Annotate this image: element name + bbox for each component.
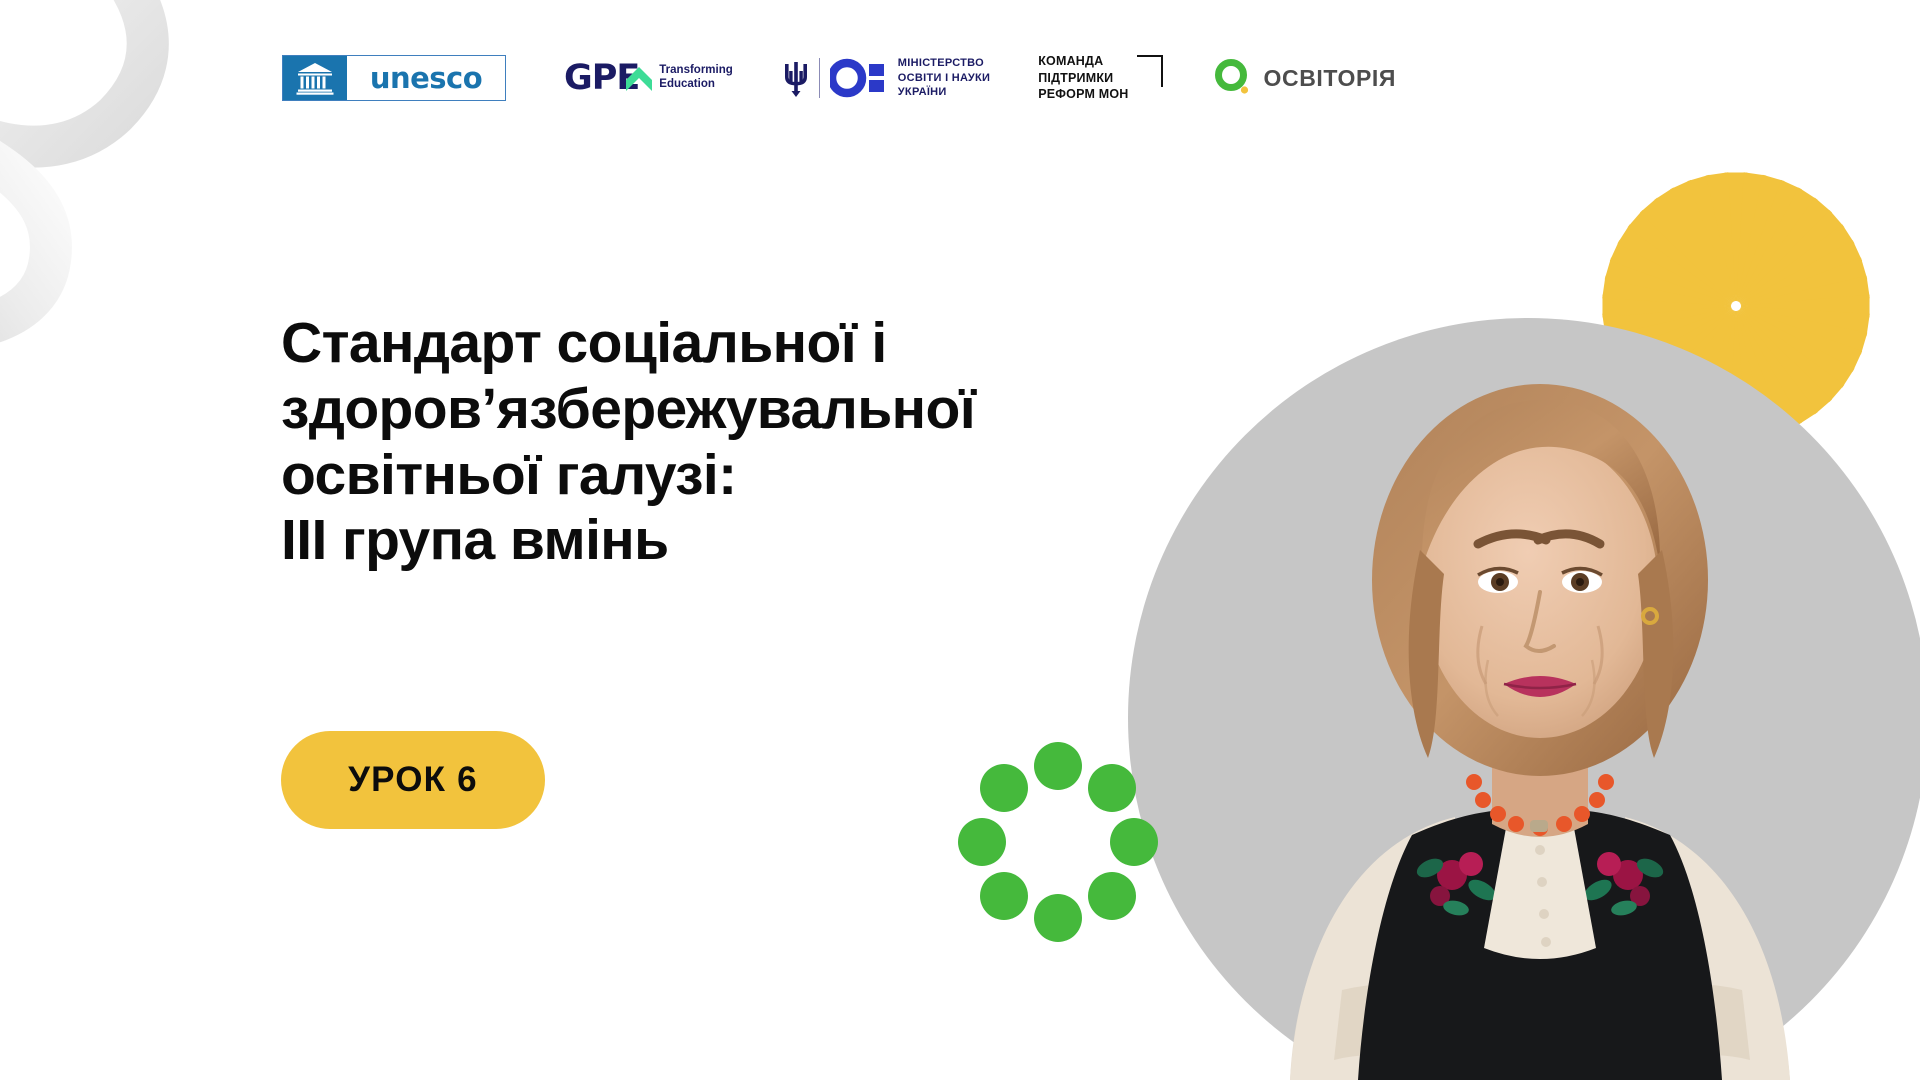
lesson-badge[interactable]: УРОК 6 [281,731,545,829]
unesco-logo: unesco [282,55,506,101]
page-title: Стандарт соціальної і здоров’язбережувал… [281,311,1201,574]
reform-line-2: ПІДТРИМКИ [1038,70,1128,87]
osvitoria-wordmark: ОСВІТОРІЯ [1264,65,1397,92]
gpe-tagline-line1: Transforming [659,64,732,78]
reform-line-1: КОМАНДА [1038,53,1128,70]
title-line-4: III група вмінь [281,508,1201,574]
ministry-line-1: МІНІСТЕРСТВО [898,56,990,71]
title-line-2: здоров’язбережувальної [281,377,1201,443]
partner-logo-bar: unesco GPE Transforming Education [282,48,1396,108]
gpe-tagline-line2: Education [659,78,732,92]
gpe-logo: GPE Transforming Education [564,61,733,96]
unesco-wordmark: unesco [347,56,505,100]
reform-support-team-logo: КОМАНДА ПІДТРИМКИ РЕФОРМ МОН [1038,53,1162,104]
green-ring-icon [1213,58,1253,98]
reform-line-3: РЕФОРМ МОН [1038,86,1128,103]
ministry-name: МІНІСТЕРСТВО ОСВІТИ І НАУКИ УКРАЇНИ [898,56,990,100]
gpe-tagline: Transforming Education [659,64,732,91]
ukraine-trident-icon [783,58,809,98]
bracket-icon [1137,55,1163,87]
white-ribbon-swirl-decoration [0,0,290,400]
slide-root: unesco GPE Transforming Education [0,0,1920,1080]
green-dot-ring-decoration [958,742,1158,942]
gpe-chevron-icon [626,61,652,95]
presenter-portrait [1230,330,1850,1080]
title-line-3: освітньої галузі: [281,443,1201,509]
reform-team-name: КОМАНДА ПІДТРИМКИ РЕФОРМ МОН [1038,53,1128,104]
osvitoria-logo: ОСВІТОРІЯ [1213,58,1397,98]
mon-colon-mark-icon [830,58,888,98]
title-line-1: Стандарт соціальної і [281,311,1201,377]
ministry-of-education-logo: МІНІСТЕРСТВО ОСВІТИ І НАУКИ УКРАЇНИ [783,56,990,100]
logo-divider [819,58,820,98]
ministry-line-3: УКРАЇНИ [898,85,990,100]
ministry-line-2: ОСВІТИ І НАУКИ [898,71,990,86]
greek-temple-icon [283,56,347,100]
